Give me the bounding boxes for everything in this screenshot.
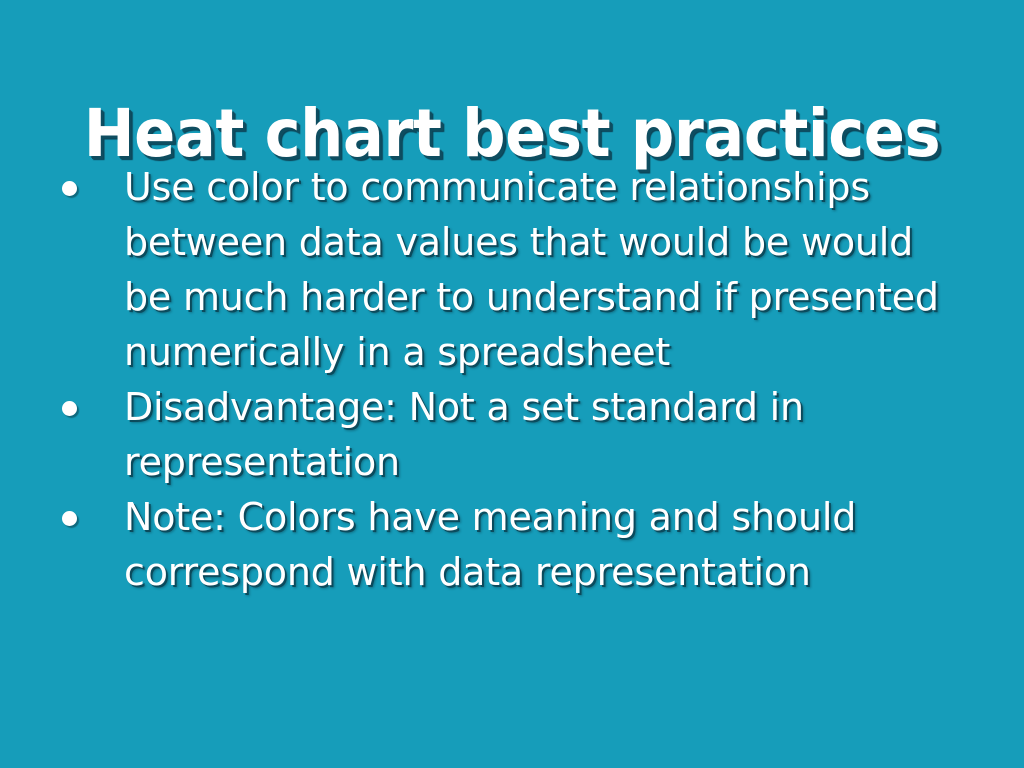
bullet-item-1: Use color to communicate relationships b…: [56, 160, 956, 380]
bullet-dot-icon: [62, 401, 77, 416]
bullet-item-text: Use color to communicate relationships b…: [124, 160, 956, 380]
bullet-list: Use color to communicate relationships b…: [56, 160, 956, 600]
bullet-dot-icon: [62, 511, 77, 526]
bullet-item-2: Disadvantage: Not a set standard in repr…: [56, 380, 956, 490]
bullet-dot-icon: [62, 181, 77, 196]
bullet-item-text: Disadvantage: Not a set standard in repr…: [124, 380, 956, 490]
bullet-item-3: Note: Colors have meaning and should cor…: [56, 490, 956, 600]
bullet-item-text: Note: Colors have meaning and should cor…: [124, 490, 956, 600]
presentation-slide: Heat chart best practices Use color to c…: [0, 0, 1024, 768]
